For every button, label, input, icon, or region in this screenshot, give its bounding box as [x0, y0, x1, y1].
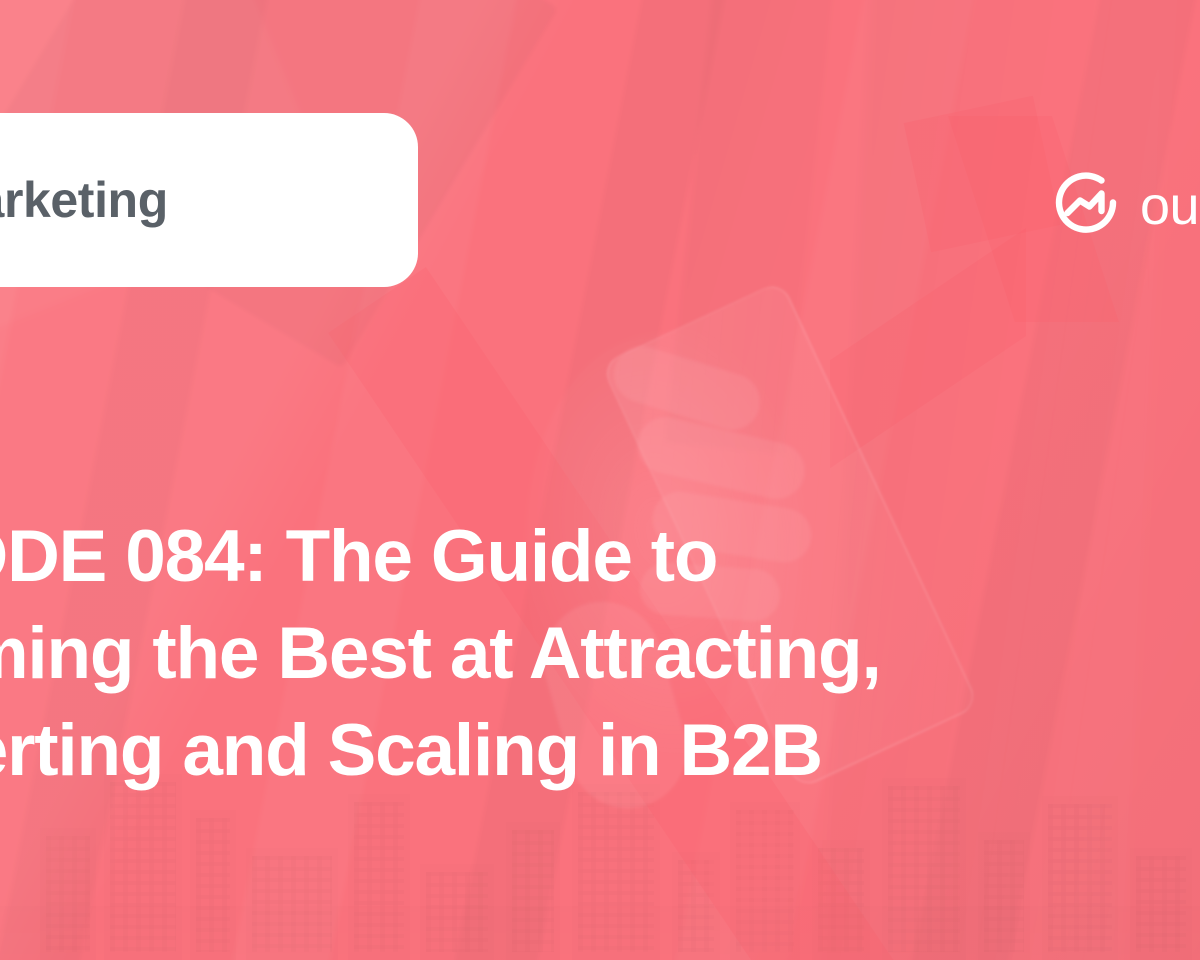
title-line: Becoming the Best at Attracting, — [0, 605, 1010, 702]
episode-title: EPISODE 084: The Guide to Becoming the B… — [0, 508, 1010, 799]
brand-logo: ou — [1052, 172, 1199, 240]
outfunnel-circle-zigzag-logo — [1052, 172, 1120, 240]
brand-wordmark: ou — [1140, 175, 1199, 237]
cover-image-canvas: Referral Marketing ou EPISODE 084: The G… — [0, 0, 1200, 960]
category-badge: Referral Marketing — [0, 113, 418, 287]
growth-arrow-head — [830, 110, 1040, 320]
category-badge-label: Referral Marketing — [0, 171, 168, 229]
title-line: EPISODE 084: The Guide to — [0, 508, 1010, 605]
street-band — [0, 906, 1200, 960]
title-line: Converting and Scaling in B2B — [0, 702, 1010, 799]
